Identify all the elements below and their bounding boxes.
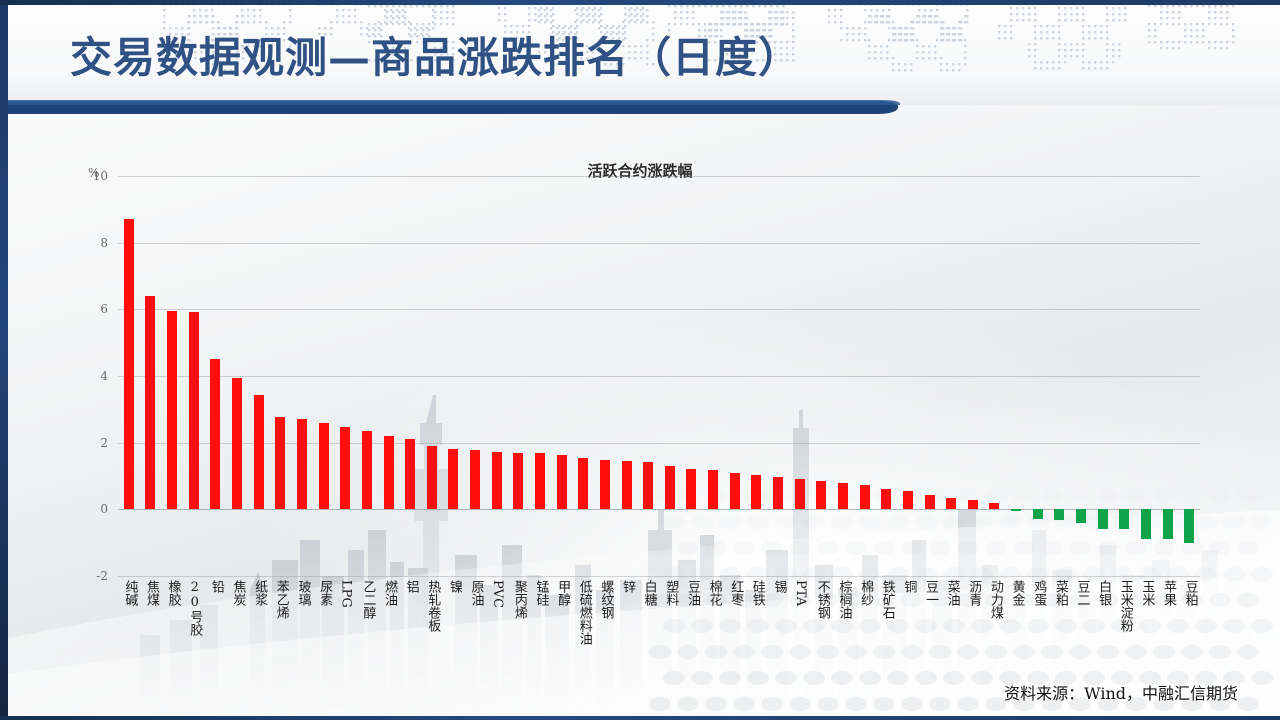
x-axis-tick-label: 菜油 [944,580,959,606]
chart-bar[interactable] [903,491,913,509]
chart-bar[interactable] [513,453,523,510]
chart-bar[interactable] [925,495,935,509]
y-axis-tick-label: 4 [48,369,108,383]
chart-bar[interactable] [362,431,372,509]
gridline [118,376,1200,377]
x-axis-tick-label: 锌 [619,580,634,593]
chart-bar[interactable] [665,466,675,509]
chart-bar[interactable] [275,417,285,510]
frame-left-edge [0,0,8,720]
chart-bar[interactable] [557,455,567,509]
chart-bar[interactable] [643,462,653,509]
chart-bar[interactable] [578,458,588,510]
chart-bar[interactable] [968,500,978,509]
x-axis-tick-label: 玉米淀粉 [1117,580,1132,632]
x-axis-tick-label: 铜 [900,580,915,593]
chart-bar[interactable] [1163,509,1173,539]
chart-bar[interactable] [448,449,458,510]
x-axis-tick-label: 白糖 [641,580,656,606]
x-axis-tick-label: 玉米 [1138,580,1153,606]
x-axis-tick-label: 螺纹钢 [597,580,612,619]
x-axis-tick-label: 铁矿石 [879,580,894,619]
chart-bar[interactable] [427,446,437,509]
chart-bar[interactable] [622,461,632,509]
x-axis-tick-label: 锰硅 [532,580,547,606]
x-axis-tick-label: PVC [489,580,504,608]
chart-bar[interactable] [1184,509,1194,542]
x-axis-tick-label: 豆粕 [1182,580,1197,606]
x-axis-tick-label: 铅 [208,580,223,593]
gridline [118,176,1200,177]
chart-bar[interactable] [254,395,264,509]
x-axis-tick-label: 纸浆 [251,580,266,606]
x-axis-tick-label: 尿素 [316,580,331,606]
x-axis-tick-label: 锡 [771,580,786,593]
chart-bar[interactable] [1054,509,1064,520]
chart-bar[interactable] [492,452,502,509]
y-axis-tick-label: 10 [48,169,108,183]
x-axis-tick-label: 塑料 [662,580,677,606]
x-axis-tick-label: 苹果 [1160,580,1175,606]
y-axis-tick-label: 2 [48,436,108,450]
chart-bar[interactable] [470,450,480,509]
x-axis-tick-label: 低硫燃料油 [576,580,591,645]
x-axis-tick-label: 原油 [468,580,483,606]
chart-bar[interactable] [340,427,350,510]
x-axis-tick-label: 棕榈油 [835,580,850,619]
gridline [118,309,1200,310]
chart-bar[interactable] [124,219,134,509]
x-axis-tick-label: LPG [338,580,353,608]
chart-bar[interactable] [946,498,956,510]
page-title-wrap: 交易数据观测—商品涨跌排名（日度） [70,24,801,85]
x-axis-tick-label: 豆油 [684,580,699,606]
x-axis-tick-label: 玻璃 [294,580,309,606]
gridline [118,576,1200,577]
x-axis-tick-label: 不锈钢 [814,580,829,619]
slide-canvas: 交易数据观测—商品涨跌排名（日度） [0,0,1280,720]
x-axis-tick-label: 鸡蛋 [1030,580,1045,606]
x-axis-tick-label: 白银 [1095,580,1110,606]
x-axis-tick-label: 甲醇 [554,580,569,606]
frame-bottom-edge [0,716,1280,720]
chart-bar[interactable] [145,296,155,509]
y-axis-tick-label: -2 [48,569,108,583]
x-axis-tick-label: 苯乙烯 [273,580,288,619]
x-axis-tick-label: 硅铁 [749,580,764,606]
x-axis-tick-label: 焦煤 [143,580,158,606]
page-title: 交易数据观测—商品涨跌排名（日度） [70,24,801,85]
chart-bar[interactable] [816,481,826,509]
chart-bar[interactable] [881,489,891,510]
x-axis-tick-label: 20号胶 [186,580,201,636]
x-axis-tick-label: PTA [792,580,807,606]
chart-bar[interactable] [600,460,610,509]
chart-bar[interactable] [384,436,394,509]
x-axis-tick-label: 豆二 [1073,580,1088,606]
chart-bar[interactable] [989,503,999,509]
chart-bar[interactable] [795,479,805,509]
chart-bar[interactable] [535,453,545,509]
x-axis-tick-label: 豆一 [922,580,937,606]
chart-bar[interactable] [189,312,199,509]
frame-top-edge [0,0,1280,5]
x-axis-tick-label: 棉花 [706,580,721,606]
chart-bar[interactable] [838,483,848,510]
chart-bar[interactable] [319,423,329,510]
x-axis-tick-label: 聚丙烯 [511,580,526,619]
chart-bar[interactable] [232,378,242,510]
x-axis-tick-label: 黄金 [1009,580,1024,606]
gridline [118,243,1200,244]
x-axis-tick-label: 纯碱 [121,580,136,606]
chart-bar[interactable] [860,485,870,509]
x-axis-tick-label: 动力煤 [987,580,1002,619]
chart-bar[interactable] [686,469,696,510]
y-axis-tick-label: 8 [48,236,108,250]
x-axis-tick-label: 热轧卷板 [424,580,439,632]
x-axis-tick-label: 橡胶 [165,580,180,606]
chart-bar[interactable] [210,359,220,509]
x-axis-tick-label: 铝 [403,580,418,593]
chart-bar[interactable] [405,439,415,510]
y-axis-tick-label: 0 [48,502,108,516]
x-axis-tick-label: 红枣 [727,580,742,606]
chart-bar[interactable] [773,477,783,509]
y-axis-tick-label: 6 [48,302,108,316]
x-axis-tick-label: 镍 [446,580,461,593]
chart-bar[interactable] [1141,509,1151,538]
chart-bar[interactable] [1033,509,1043,518]
chart-bar[interactable] [297,419,307,510]
chart-bar[interactable] [167,311,177,509]
x-axis-tick-label: 棉纱 [857,580,872,606]
chart-bar[interactable] [708,470,718,509]
x-axis-tick-label: 焦炭 [230,580,245,606]
chart-bar[interactable] [1076,509,1086,522]
x-axis-tick-label: 沥青 [965,580,980,606]
chart-bar[interactable] [1119,509,1129,528]
plot-region: 1086420-2 [118,176,1200,576]
source-note: 资料来源：Wind，中融汇信期货 [1004,680,1238,704]
x-axis-tick-label: 燃油 [381,580,396,606]
chart-bar[interactable] [751,475,761,509]
title-underline-bar [0,100,906,115]
x-axis-tick-label: 乙二醇 [359,580,374,619]
chart-bar[interactable] [1098,509,1108,528]
chart-bar[interactable] [730,473,740,510]
chart-bar[interactable] [1011,509,1021,511]
x-axis-tick-label: 菜粕 [1052,580,1067,606]
chart-area: 活跃合约涨跌幅 % 1086420-2 纯碱焦煤橡胶20号胶铅焦炭纸浆苯乙烯玻璃… [0,120,1280,640]
